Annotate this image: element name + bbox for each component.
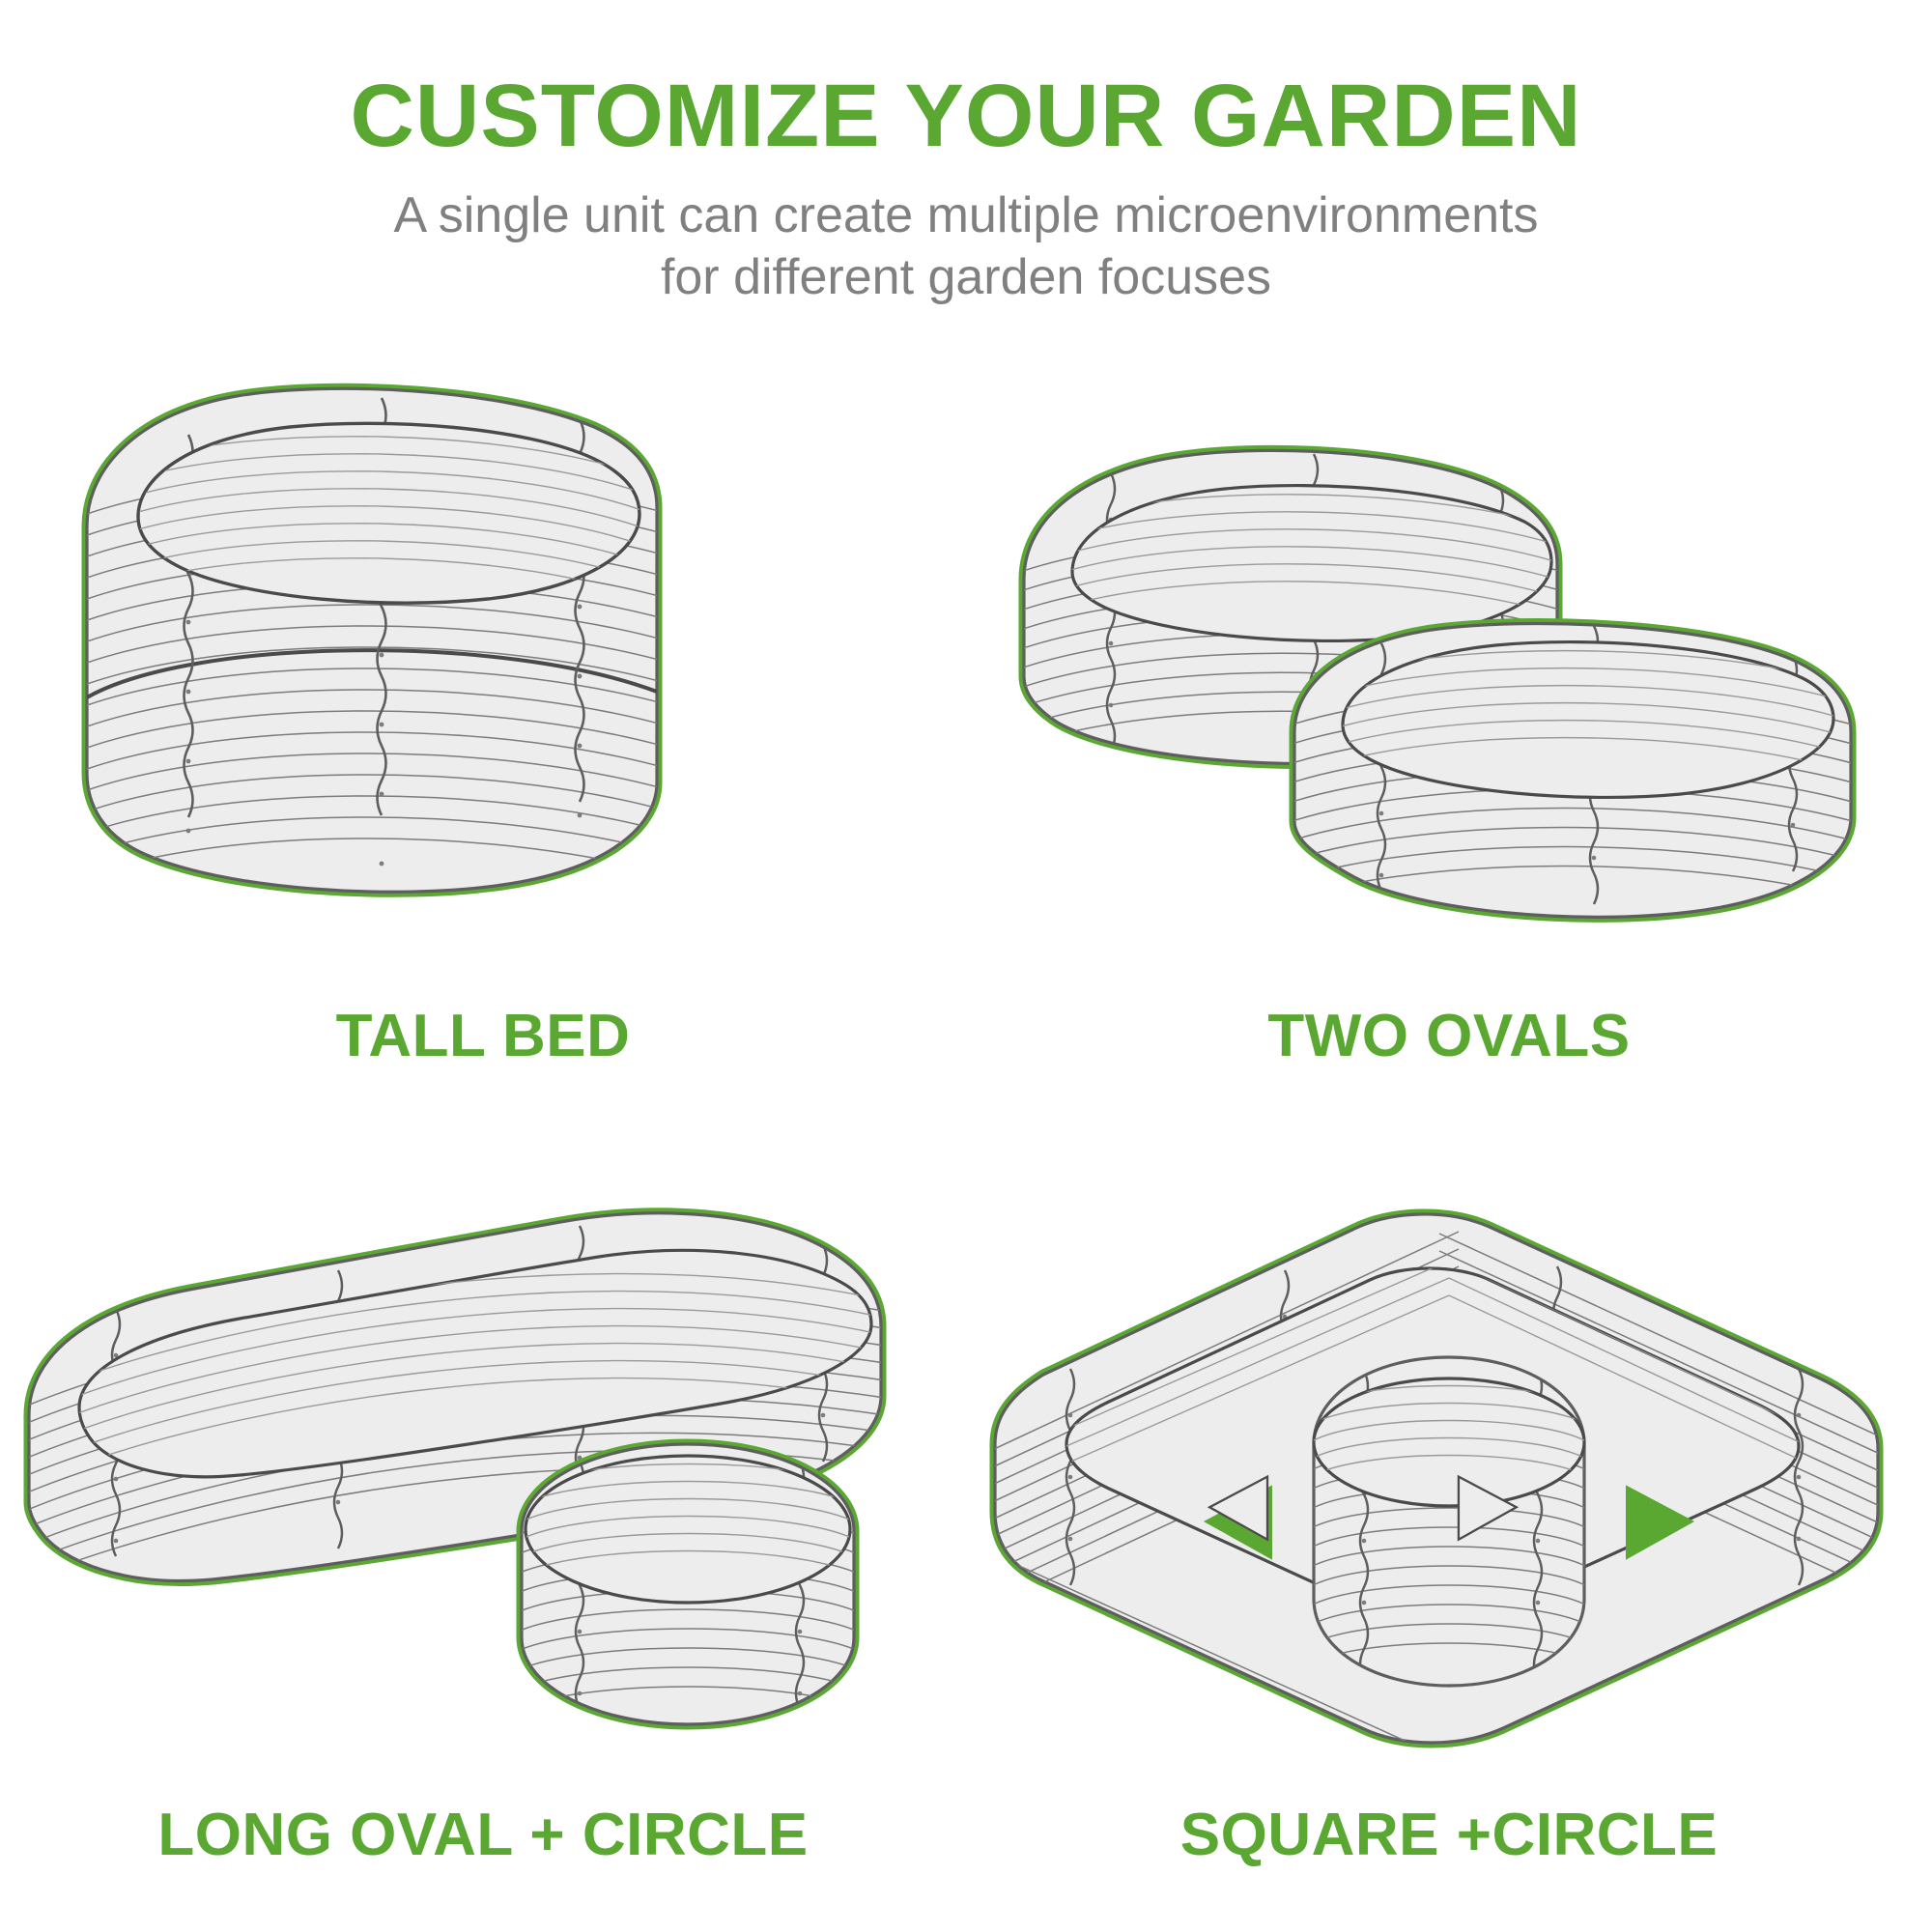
two-ovals-bed-b [1265, 624, 1884, 923]
panel-label-tall-bed: TALL BED [336, 1007, 631, 1066]
infographic-page: CUSTOMIZE YOUR GARDEN A single unit can … [0, 0, 1932, 1932]
nested-circle-bed [1306, 1357, 1592, 1686]
square-circle-illustration [966, 1125, 1932, 1802]
subtitle-line-2: for different garden focuses [135, 247, 1797, 309]
header: CUSTOMIZE YOUR GARDEN A single unit can … [0, 0, 1932, 309]
circle-bed-inner-cavity [526, 1456, 850, 1603]
panel-label-long-oval-circle: LONG OVAL + CIRCLE [157, 1805, 808, 1865]
panel-two-ovals: TWO OVALS [966, 319, 1932, 1125]
tall-bed-illustration [0, 319, 966, 995]
page-subtitle: A single unit can create multiple microe… [135, 185, 1797, 309]
subtitle-line-1: A single unit can create multiple microe… [135, 185, 1797, 247]
panel-long-oval-circle: LONG OVAL + CIRCLE [0, 1125, 966, 1932]
long-oval-circle-illustration [0, 1125, 966, 1802]
page-title: CUSTOMIZE YOUR GARDEN [0, 71, 1932, 160]
tall-bed-body [58, 388, 696, 892]
tall-bed-inner-cavity [138, 423, 639, 603]
panel-label-square-circle: SQUARE +CIRCLE [1180, 1805, 1718, 1865]
circle-bed [510, 1444, 866, 1724]
panel-tall-bed: TALL BED [0, 319, 966, 1125]
panel-square-circle: SQUARE +CIRCLE [966, 1125, 1932, 1932]
two-ovals-illustration [966, 319, 1932, 995]
configuration-grid: TALL BED [0, 319, 1932, 1932]
oval-a-inner-cavity [1072, 486, 1551, 641]
panel-label-two-ovals: TWO OVALS [1267, 1007, 1630, 1066]
nested-circle-inner-cavity [1314, 1378, 1584, 1506]
